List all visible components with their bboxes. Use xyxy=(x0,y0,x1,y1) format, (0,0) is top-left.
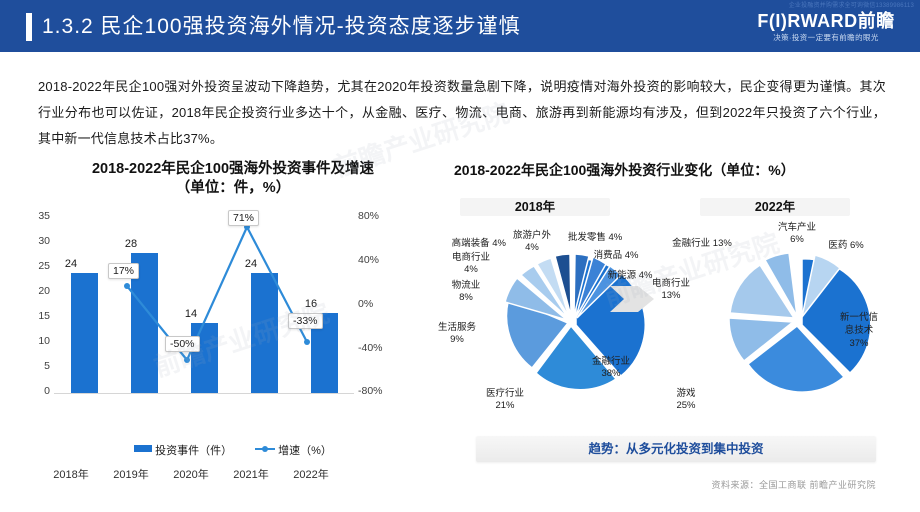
legend-swatch-bar xyxy=(134,445,152,452)
legend-label-line: 增速（%） xyxy=(278,445,332,457)
pie2018-label-jinronghangye-value: 38% xyxy=(580,368,642,380)
pie2018-label-gaoduanzhuangbei: 高端装备 4% xyxy=(432,238,506,250)
growth-callout-2019: 17% xyxy=(108,263,139,279)
pie2018-label-yiliaohangye-name: 医疗行业 xyxy=(474,388,536,400)
left-chart-legend: 投资事件（件） 增速（%） xyxy=(28,442,438,458)
pie2018-label-pifalingshou: 批发零售 4% xyxy=(560,232,630,244)
source-note: 资料来源：全国工商联 前瞻产业研究院 xyxy=(711,478,876,491)
left-chart-title-line1: 2018-2022年民企100强海外投资事件及增速 xyxy=(28,160,438,179)
legend-swatch-line xyxy=(255,448,275,450)
pie2018-label-lvyouhuwai-name: 旅游户外 xyxy=(506,230,558,242)
growth-callout-2022: -33% xyxy=(288,313,323,329)
pie2018-label-lvyouhuwai-value: 4% xyxy=(506,242,558,254)
pie2018-label-jinronghangye-name: 金融行业 xyxy=(580,356,642,368)
year-tab-2022: 2022年 xyxy=(700,198,850,216)
pie2022-label-xinyidai-line2: 息技术 xyxy=(828,325,890,337)
pie2018-label-dianshanghangye-name: 电商行业 xyxy=(442,252,500,264)
legend-label-bar: 投资事件（件） xyxy=(155,445,232,457)
pie2018-label-dianshanghangye-value: 4% xyxy=(442,264,500,276)
right-chart-title: 2018-2022年民企100强海外投资行业变化（单位：%） xyxy=(450,160,896,180)
x-tick-2019: 2019年 xyxy=(99,466,163,482)
growth-callout-2021: 71% xyxy=(228,210,259,226)
pie2018-label-wuliuye-value: 8% xyxy=(438,292,494,304)
pie2018-label-xiaofeipin: 消费品 4% xyxy=(586,250,646,262)
pie2018-label-yiliaohangye-value: 21% xyxy=(474,400,536,412)
growth-callout-2020: -50% xyxy=(165,336,200,352)
year-tab-2018: 2018年 xyxy=(460,198,610,216)
pie2018-label-shenghuofuwu-name: 生活服务 xyxy=(426,322,488,334)
investment-events-chart: 2018-2022年民企100强海外投资事件及增速 （单位：件，%） 35 30… xyxy=(28,160,438,480)
pie2022-label-yiyao: 医药 6% xyxy=(818,240,874,252)
growth-line-series xyxy=(28,208,438,413)
summary-paragraph: 2018-2022年民企100强对外投资呈波动下降趋势，尤其在2020年投资数量… xyxy=(38,74,886,152)
title-accent-bar xyxy=(26,13,32,41)
pie2022-label-xinyidai-value: 37% xyxy=(828,338,890,350)
logo-wordmark: F(I)RWARD前瞻 xyxy=(746,11,906,31)
page-title: 1.3.2 民企100强投资海外情况-投资态度逐步谨慎 xyxy=(42,13,521,41)
x-tick-2022: 2022年 xyxy=(279,466,343,482)
x-tick-2021: 2021年 xyxy=(219,466,283,482)
pie2022-label-youxi-value: 25% xyxy=(662,400,710,412)
left-chart-plot-area: 35 30 25 20 15 10 5 0 80% 40% 0% -40% -8… xyxy=(28,208,438,413)
transition-arrow-icon xyxy=(610,282,654,316)
header-contact-note: 企业投融资并购需求全可询微信13389986113 xyxy=(789,0,914,9)
industry-mix-chart: 2018-2022年民企100强海外投资行业变化（单位：%） 2018年 202… xyxy=(450,160,896,490)
pie2022-label-xinyidai-line1: 新一代信 xyxy=(828,312,890,324)
pie2022-label-qichechanye-name: 汽车产业 xyxy=(766,222,828,234)
pie2018-label-shenghuofuwu-value: 9% xyxy=(426,334,488,346)
logo-tagline: 决策·投资一定要有前瞻的眼光 xyxy=(746,32,906,43)
x-tick-2020: 2020年 xyxy=(159,466,223,482)
pie2022-label-youxi-name: 游戏 xyxy=(662,388,710,400)
trend-banner: 趋势：从多元化投资到集中投资 xyxy=(476,436,876,462)
brand-logo: F(I)RWARD前瞻 决策·投资一定要有前瞻的眼光 xyxy=(746,11,906,43)
x-tick-2018: 2018年 xyxy=(39,466,103,482)
page-header: 企业投融资并购需求全可询微信13389986113 1.3.2 民企100强投资… xyxy=(0,0,920,52)
pie2018-label-wuliuye-name: 物流业 xyxy=(438,280,494,292)
pie2022-label-jinronghangye: 金融行业 13% xyxy=(658,238,746,250)
left-chart-title-line2: （单位：件，%） xyxy=(28,179,438,198)
